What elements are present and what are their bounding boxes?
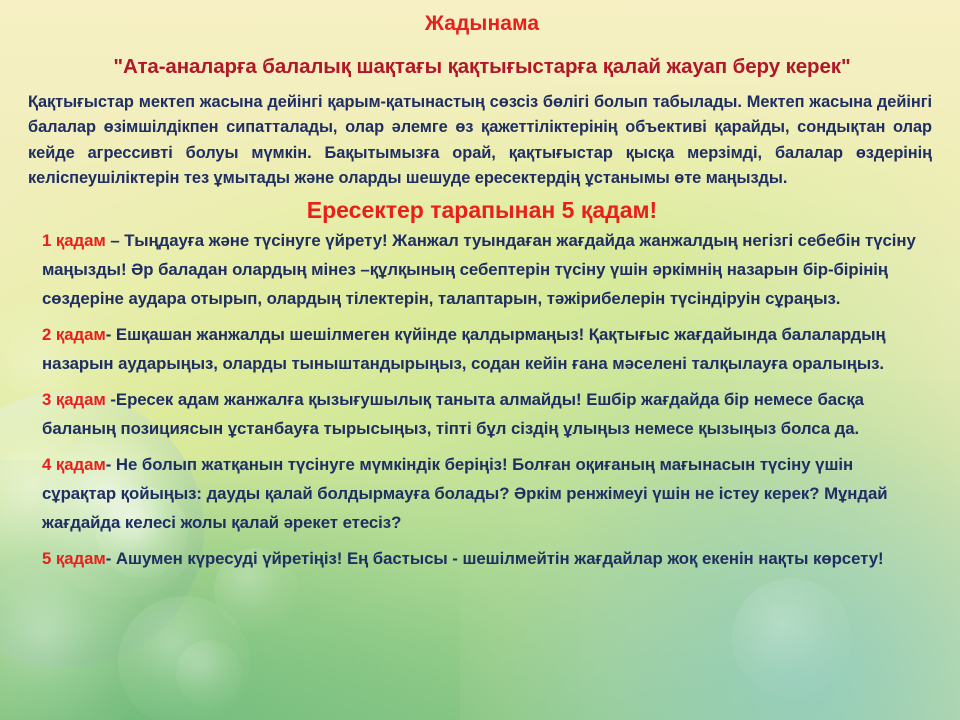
- step-label-3: 3 қадам: [42, 390, 106, 409]
- poster-subtitle: "Ата-аналарға балалық шақтағы қақтығыста…: [26, 37, 938, 82]
- step-item-2: 2 қадам- Ешқашан жанжалды шешілмеген күй…: [26, 320, 938, 378]
- step-text-4: - Не болып жатқанын түсінуге мүмкіндік б…: [42, 455, 888, 532]
- poster-content: Жадынама "Ата-аналарға балалық шақтағы қ…: [0, 0, 960, 720]
- page-title: Жадынама: [26, 6, 938, 37]
- step-label-2: 2 қадам: [42, 325, 106, 344]
- step-text-2: - Ешқашан жанжалды шешілмеген күйінде қа…: [42, 325, 886, 373]
- step-text-3: -Ересек адам жанжалға қызығушылық таныта…: [42, 390, 864, 438]
- section-heading-five-steps: Ересектер тарапынан 5 қадам!: [26, 192, 938, 226]
- step-item-5: 5 қадам- Ашумен күресуді үйретіңіз! Ең б…: [26, 544, 938, 573]
- step-item-4: 4 қадам- Не болып жатқанын түсінуге мүмк…: [26, 450, 938, 537]
- step-label-5: 5 қадам: [42, 549, 106, 568]
- step-item-3: 3 қадам -Ересек адам жанжалға қызығушылы…: [26, 385, 938, 443]
- step-item-1: 1 қадам – Тыңдауға және түсінуге үйрету!…: [26, 226, 938, 313]
- intro-paragraph: Қақтығыстар мектеп жасына дейінгі қарым-…: [26, 82, 938, 192]
- step-label-1: 1 қадам: [42, 231, 106, 250]
- step-label-4: 4 қадам: [42, 455, 106, 474]
- step-text-5: - Ашумен күресуді үйретіңіз! Ең бастысы …: [106, 549, 884, 568]
- step-text-1: – Тыңдауға және түсінуге үйрету! Жанжал …: [42, 231, 916, 308]
